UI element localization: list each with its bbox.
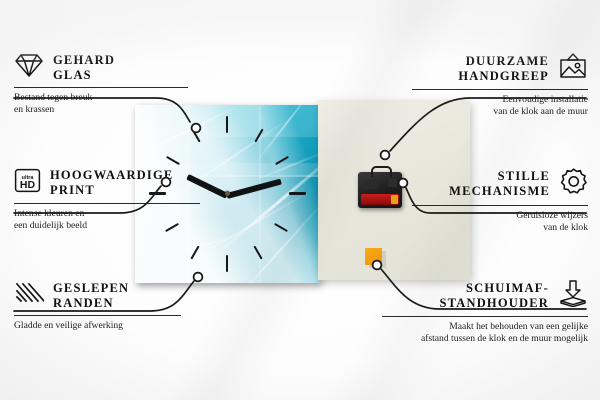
divider	[14, 315, 181, 316]
mechanism-setting-knob	[388, 179, 397, 187]
diamond-icon	[14, 52, 44, 83]
ultra-hd-icon: ultra HD	[14, 167, 41, 199]
divider	[14, 203, 200, 204]
feature-title-line2: HANDGREEP	[458, 69, 549, 84]
feature-title-line2: PRINT	[50, 183, 173, 198]
feature-gehard-glas: GEHARD GLAS Bestand tegen breuk en krass…	[14, 52, 188, 117]
feature-desc-line1: Gladde en veilige afwerking	[14, 320, 181, 332]
divider	[14, 87, 188, 88]
foam-spacer-pad	[365, 248, 382, 265]
product-feature-infographic: GEHARD GLAS Bestand tegen breuk en krass…	[0, 0, 600, 400]
feature-hoogwaardige-print: ultra HD HOOGWAARDIGE PRINT Intense kleu…	[14, 167, 200, 233]
feature-title-line2: STANDHOUDER	[439, 296, 549, 311]
feature-stille-mechanisme: STILLE MECHANISME Geruisloze wijzers van…	[412, 167, 588, 235]
hanging-picture-icon	[558, 52, 588, 85]
feature-desc-line1: Maakt het behouden van een gelijke	[382, 321, 588, 333]
hour-marker	[226, 255, 228, 272]
feature-desc-line1: Geruisloze wijzers	[412, 210, 588, 222]
clock-center-pin	[225, 191, 230, 196]
feature-title-line2: GLAS	[53, 68, 115, 83]
gear-icon	[559, 167, 588, 201]
divider	[382, 316, 588, 317]
mechanism-housing	[364, 180, 377, 189]
feature-title-line1: DUURZAME	[458, 54, 549, 69]
feature-desc-line2: afstand tussen de klok en de muur mogeli…	[382, 333, 588, 345]
battery-plus-terminal	[391, 195, 398, 204]
feature-title-line1: HOOGWAARDIGE	[50, 168, 173, 183]
feature-title-line1: GESLEPEN	[53, 281, 129, 296]
feature-desc-line1: Intense kleuren en	[14, 208, 200, 220]
feature-schuimafstandhouder: SCHUIMAF- STANDHOUDER Maakt het behouden…	[382, 279, 588, 346]
feature-title-line2: RANDEN	[53, 296, 129, 311]
feature-desc-line1: Eenvoudige installatie	[412, 94, 588, 106]
press-down-pad-icon	[558, 279, 588, 312]
clock-mechanism	[358, 172, 402, 208]
feature-title-line1: GEHARD	[53, 53, 115, 68]
hour-marker	[226, 116, 228, 133]
feature-title-line1: SCHUIMAF-	[439, 281, 549, 296]
feature-desc-line2: een duidelijk beeld	[14, 220, 200, 232]
battery	[361, 194, 399, 205]
diagonal-lines-icon	[14, 281, 44, 311]
feature-title-line2: MECHANISME	[449, 184, 550, 199]
divider	[412, 89, 588, 90]
feature-desc-line1: Bestand tegen breuk	[14, 92, 188, 104]
feature-title-line1: STILLE	[449, 169, 550, 184]
ultra-hd-icon-large-text: HD	[20, 179, 36, 191]
divider	[412, 205, 588, 206]
hour-marker	[289, 192, 306, 195]
feature-desc-line2: van de klok aan de muur	[412, 106, 588, 118]
hanger-hook-icon	[371, 166, 392, 177]
feature-desc-line2: van de klok	[412, 222, 588, 234]
feature-desc-line2: en krassen	[14, 104, 188, 116]
feature-geslepen-randen: GESLEPEN RANDEN Gladde en veilige afwerk…	[14, 281, 181, 332]
feature-duurzame-handgreep: DUURZAME HANDGREEP Eenvoudige installati…	[412, 52, 588, 119]
